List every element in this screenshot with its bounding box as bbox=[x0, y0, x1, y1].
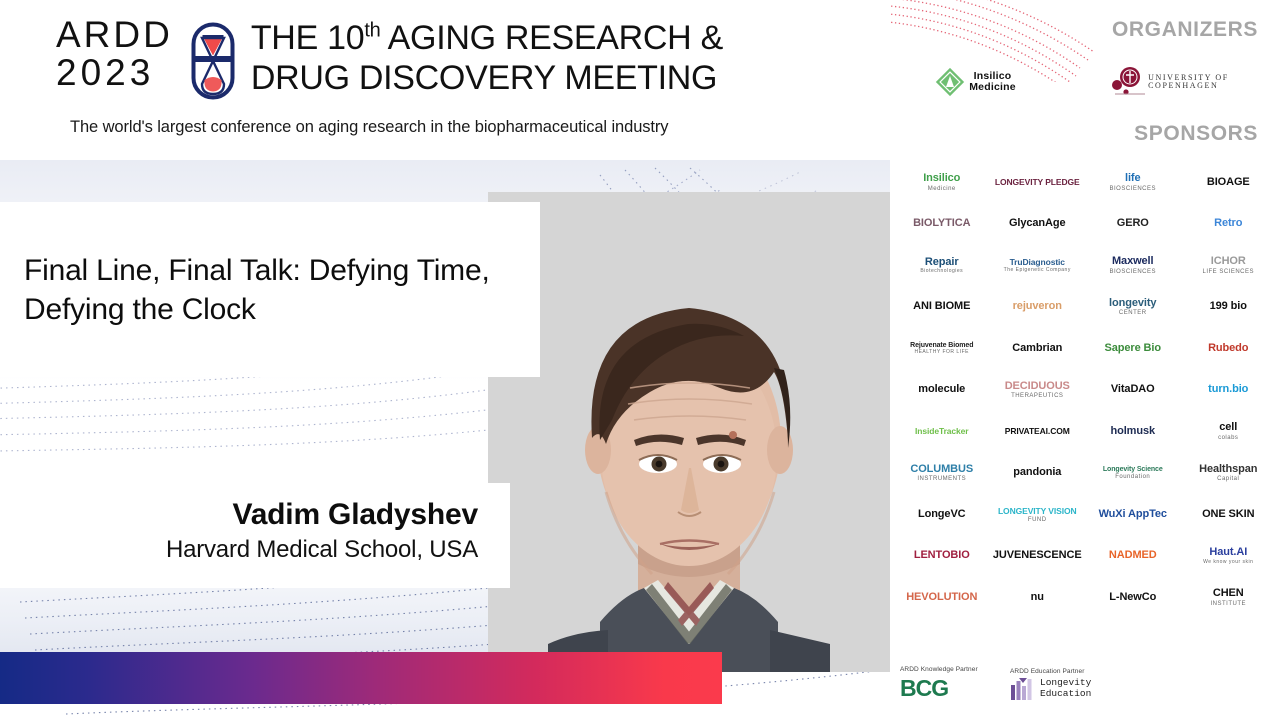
sponsor-logo-ichor-life-sciences[interactable]: ICHORLIFE SCIENCES bbox=[1181, 246, 1275, 286]
sponsor-panel: ORGANIZERS Insilico Medicine bbox=[890, 0, 1280, 720]
sponsor-name-line1: InsideTracker bbox=[915, 427, 969, 436]
sponsor-name-line1: LENTOBIO bbox=[914, 550, 970, 562]
sponsor-logo-turn-bio[interactable]: turn.bio bbox=[1181, 370, 1275, 410]
copenhagen-seal-icon bbox=[1111, 65, 1145, 99]
sponsor-name-line1: rejuveron bbox=[1013, 301, 1062, 313]
sponsor-logo-haut-ai[interactable]: Haut.AIWe know your skin bbox=[1181, 536, 1275, 576]
sponsor-name-line1: LongeVC bbox=[918, 509, 966, 521]
sponsor-logo-rejuveron[interactable]: rejuveron bbox=[990, 287, 1084, 327]
insilico-diamond-icon bbox=[934, 66, 966, 98]
sponsor-name-line2: INSTITUTE bbox=[1211, 601, 1247, 607]
sponsor-name-line2: Foundation bbox=[1103, 474, 1163, 480]
sponsor-logo-chen-institute[interactable]: CHENINSTITUTE bbox=[1181, 578, 1275, 618]
sponsor-logo-cambrian[interactable]: Cambrian bbox=[990, 329, 1084, 369]
sponsor-logo-life-biosciences[interactable]: lifeBIOSCIENCES bbox=[1086, 163, 1180, 203]
sponsor-name-line1: TruDiagnostic bbox=[1004, 258, 1071, 267]
sponsor-logo-longevity-center[interactable]: longevityCENTER bbox=[1086, 287, 1180, 327]
sponsor-name-line1: nu bbox=[1031, 592, 1044, 604]
speaker-affiliation: Harvard Medical School, USA bbox=[0, 534, 478, 565]
sponsor-logo-insilico-medicine[interactable]: InsilicoMedicine bbox=[895, 163, 989, 203]
sponsor-name-line1: Haut.AI bbox=[1203, 547, 1253, 559]
sponsor-name-line1: Healthspan bbox=[1199, 464, 1257, 476]
page-title: Final Line, Final Talk: Defying Time, De… bbox=[0, 251, 540, 329]
speaker-info-card: Vadim Gladyshev Harvard Medical School, … bbox=[0, 483, 510, 588]
sponsor-name-line1: ICHOR bbox=[1202, 256, 1254, 268]
organizer-name-line2: COPENHAGEN bbox=[1148, 82, 1229, 90]
sponsor-logo-cell-colabs[interactable]: cellcolabs bbox=[1181, 412, 1275, 452]
speaker-photo bbox=[488, 192, 890, 672]
sponsor-name-line1: Longevity Science bbox=[1103, 466, 1163, 473]
sponsor-name-line1: cell bbox=[1218, 422, 1238, 434]
sponsor-logo-biolytica[interactable]: BIOLYTICA bbox=[895, 204, 989, 244]
sponsor-name-line1: Retro bbox=[1214, 218, 1242, 230]
talk-title-card: Final Line, Final Talk: Defying Time, De… bbox=[0, 202, 540, 377]
sponsor-name-line2: INSTRUMENTS bbox=[910, 476, 973, 482]
sponsor-logo-deciduous-therapeutics[interactable]: DECIDUOUSTHERAPEUTICS bbox=[990, 370, 1084, 410]
partner-name: BCG bbox=[900, 675, 1000, 702]
ardd-wordmark: ARDD 2023 bbox=[56, 16, 173, 91]
sponsor-name-line2: Biotechnologies bbox=[920, 269, 963, 274]
sponsor-name-line2: LIFE SCIENCES bbox=[1202, 269, 1254, 275]
sponsor-logo-holmusk[interactable]: holmusk bbox=[1086, 412, 1180, 452]
sponsor-logo-sapere-bio[interactable]: Sapere Bio bbox=[1086, 329, 1180, 369]
organizer-name-line2: Medicine bbox=[969, 82, 1016, 93]
sponsor-logo-longevity-pledge[interactable]: LONGEVITY PLEDGE bbox=[990, 163, 1084, 203]
slide-canvas: Final Line, Final Talk: Defying Time, De… bbox=[0, 0, 890, 720]
sponsor-logo-nadmed[interactable]: NADMED bbox=[1086, 536, 1180, 576]
sponsor-logo-trudiagnostic[interactable]: TruDiagnosticThe Epigenetic Company bbox=[990, 246, 1084, 286]
sponsor-name-line2: Capital bbox=[1199, 476, 1257, 482]
sponsor-logo-ani-biome[interactable]: ANI BIOME bbox=[895, 287, 989, 327]
sponsor-logo-one-skin[interactable]: ONE SKIN bbox=[1181, 495, 1275, 535]
partner-caption: ARDD Knowledge Partner bbox=[900, 666, 1000, 673]
sponsor-name-line1: Rubedo bbox=[1208, 343, 1248, 355]
sponsor-logo-vitadao[interactable]: VitaDAO bbox=[1086, 370, 1180, 410]
sponsor-logo-gero[interactable]: GERO bbox=[1086, 204, 1180, 244]
organizers-row: Insilico Medicine UNIV bbox=[890, 52, 1280, 112]
sponsor-logo-longevity-science-foundation[interactable]: Longevity ScienceFoundation bbox=[1086, 453, 1180, 493]
sponsor-logo-longevity-vision-fund[interactable]: LONGEVITY VISIONFUND bbox=[990, 495, 1084, 535]
sponsor-logo-rejuvenate-biomed[interactable]: Rejuvenate BiomedHEALTHY FOR LIFE bbox=[895, 329, 989, 369]
sponsor-logo-nu[interactable]: nu bbox=[990, 578, 1084, 618]
sponsor-name-line1: BIOLYTICA bbox=[913, 218, 970, 230]
partner-name-line1: Longevity bbox=[1040, 678, 1091, 688]
partner-caption: ARDD Education Partner bbox=[1010, 668, 1120, 675]
sponsor-name-line2: FUND bbox=[998, 517, 1077, 523]
hourglass-capsule-icon bbox=[191, 22, 235, 100]
sponsors-label: SPONSORS bbox=[890, 122, 1280, 146]
organizers-label: ORGANIZERS bbox=[890, 18, 1280, 42]
sponsor-name-line1: Maxwell bbox=[1109, 256, 1156, 268]
sponsor-name-line1: HEVOLUTION bbox=[906, 592, 977, 604]
conference-title-line2: DRUG DISCOVERY MEETING bbox=[251, 58, 723, 98]
conference-subtitle: The world's largest conference on aging … bbox=[70, 118, 668, 137]
sponsor-logo-privateai-com[interactable]: PRIVATEAI.COM bbox=[990, 412, 1084, 452]
sponsor-name-line1: LONGEVITY VISION bbox=[998, 507, 1077, 516]
sponsor-name-line1: ONE SKIN bbox=[1202, 509, 1254, 521]
sponsor-name-line1: CHEN bbox=[1211, 588, 1247, 600]
sponsor-name-line1: L-NewCo bbox=[1109, 592, 1156, 604]
sponsor-name-line2: colabs bbox=[1218, 435, 1238, 441]
sponsor-name-line1: JUVENESCENCE bbox=[993, 550, 1082, 562]
sponsor-name-line1: turn.bio bbox=[1208, 384, 1248, 396]
sponsor-logo-insidetracker[interactable]: InsideTracker bbox=[895, 412, 989, 452]
sponsor-name-line1: BIOAGE bbox=[1207, 177, 1250, 189]
sponsor-name-line1: Repair bbox=[920, 257, 963, 269]
sponsor-name-line1: pandonia bbox=[1013, 467, 1061, 479]
sponsor-name-line2: Medicine bbox=[923, 186, 960, 192]
longevity-education-bars-icon bbox=[1010, 677, 1036, 701]
sponsor-name-line2: The Epigenetic Company bbox=[1004, 268, 1071, 273]
partner-strip: ARDD Knowledge Partner BCG ARDD Educatio… bbox=[890, 648, 1280, 720]
sponsor-name-line1: VitaDAO bbox=[1111, 384, 1155, 396]
sponsor-name-line1: GlycanAge bbox=[1009, 218, 1066, 230]
speaker-name: Vadim Gladyshev bbox=[0, 483, 478, 534]
sponsor-name-line1: holmusk bbox=[1110, 426, 1155, 438]
partner-longevity-education[interactable]: ARDD Education Partner Longevity Educati… bbox=[1000, 668, 1120, 701]
sponsor-name-line1: DECIDUOUS bbox=[1005, 381, 1070, 393]
conference-header: ARDD 2023 THE 10th AGING RESEARCH & DRUG… bbox=[0, 0, 890, 160]
sponsor-name-line1: longevity bbox=[1109, 298, 1156, 310]
sponsor-logo-molecule[interactable]: molecule bbox=[895, 370, 989, 410]
sponsor-name-line1: molecule bbox=[918, 384, 965, 396]
sponsor-logo-maxwell-biosciences[interactable]: MaxwellBIOSCIENCES bbox=[1086, 246, 1180, 286]
conference-title: THE 10th AGING RESEARCH & DRUG DISCOVERY… bbox=[251, 16, 723, 98]
sponsor-logo-retro[interactable]: Retro bbox=[1181, 204, 1275, 244]
sponsor-logo-longevc[interactable]: LongeVC bbox=[895, 495, 989, 535]
sponsor-name-line1: PRIVATEAI.COM bbox=[1005, 427, 1070, 436]
speaker-portrait-illustration bbox=[488, 192, 890, 672]
sponsor-logo-l-newco[interactable]: L-NewCo bbox=[1086, 578, 1180, 618]
presentation-slide: Final Line, Final Talk: Defying Time, De… bbox=[0, 0, 1280, 720]
sponsor-name-line1: Insilico bbox=[923, 173, 960, 185]
sponsor-name-line2: HEALTHY FOR LIFE bbox=[910, 350, 973, 355]
sponsor-logo-columbus-instruments[interactable]: COLUMBUSINSTRUMENTS bbox=[895, 453, 989, 493]
sponsor-logo-glycanage[interactable]: GlycanAge bbox=[990, 204, 1084, 244]
sponsor-logo-juvenescence[interactable]: JUVENESCENCE bbox=[990, 536, 1084, 576]
sponsor-logo-grid: InsilicoMedicineLONGEVITY PLEDGElifeBIOS… bbox=[894, 162, 1276, 619]
ardd-year: 2023 bbox=[56, 54, 173, 92]
sponsor-logo-rubedo[interactable]: Rubedo bbox=[1181, 329, 1275, 369]
sponsor-name-line2: We know your skin bbox=[1203, 560, 1253, 565]
sponsor-logo-lentobio[interactable]: LENTOBIO bbox=[895, 536, 989, 576]
sponsor-logo-wuxi-apptec[interactable]: WuXi AppTec bbox=[1086, 495, 1180, 535]
sponsor-name-line1: COLUMBUS bbox=[910, 464, 973, 476]
partner-name-line2: Education bbox=[1040, 689, 1091, 699]
sponsor-name-line1: NADMED bbox=[1109, 550, 1157, 562]
sponsor-name-line1: WuXi AppTec bbox=[1099, 509, 1167, 521]
sponsor-logo-hevolution[interactable]: HEVOLUTION bbox=[895, 578, 989, 618]
bottom-gradient-bar bbox=[0, 652, 722, 704]
sponsor-name-line1: GERO bbox=[1117, 218, 1149, 230]
sponsor-name-line1: 199 bio bbox=[1210, 301, 1247, 313]
sponsor-logo-repair-biotechnologies[interactable]: RepairBiotechnologies bbox=[895, 246, 989, 286]
sponsor-name-line1: Sapere Bio bbox=[1105, 343, 1161, 355]
organizer-logo-university-of-copenhagen[interactable]: UNIVERSITY OF COPENHAGEN bbox=[1075, 56, 1265, 108]
sponsor-name-line1: Rejuvenate Biomed bbox=[910, 342, 973, 349]
sponsor-name-line2: THERAPEUTICS bbox=[1005, 393, 1070, 399]
partner-bcg[interactable]: ARDD Knowledge Partner BCG bbox=[890, 666, 1000, 702]
sponsor-name-line1: Cambrian bbox=[1012, 343, 1062, 355]
sponsor-name-line1: LONGEVITY PLEDGE bbox=[995, 178, 1080, 187]
sponsor-logo-healthspan-capital[interactable]: HealthspanCapital bbox=[1181, 453, 1275, 493]
sponsor-logo-bioage[interactable]: BIOAGE bbox=[1181, 163, 1275, 203]
sponsor-name-line2: BIOSCIENCES bbox=[1109, 186, 1156, 192]
sponsor-name-line2: CENTER bbox=[1109, 310, 1156, 316]
sponsor-name-line1: ANI BIOME bbox=[913, 301, 970, 313]
sponsor-logo-199-bio[interactable]: 199 bio bbox=[1181, 287, 1275, 327]
organizer-logo-insilico-medicine[interactable]: Insilico Medicine bbox=[905, 56, 1045, 108]
sponsor-logo-pandonia[interactable]: pandonia bbox=[990, 453, 1084, 493]
sponsor-name-line2: BIOSCIENCES bbox=[1109, 269, 1156, 275]
sponsor-name-line1: life bbox=[1109, 173, 1156, 185]
ardd-name: ARDD bbox=[56, 16, 173, 54]
conference-title-line1: THE 10th AGING RESEARCH & bbox=[251, 18, 723, 58]
